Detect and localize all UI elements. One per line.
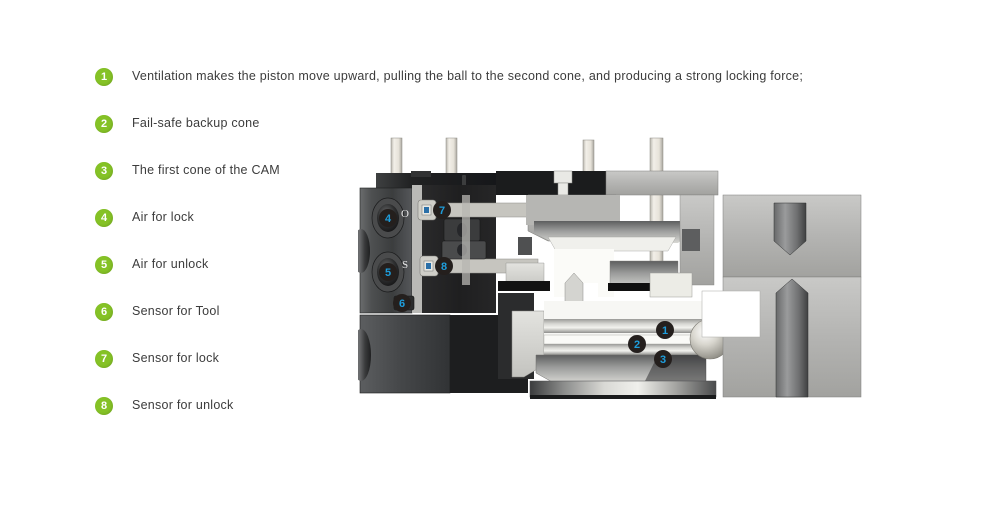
legend-label-4: Air for lock — [132, 210, 194, 224]
port-label-lock: O — [401, 208, 409, 220]
legend-label-1: Ventilation makes the piston move upward… — [132, 69, 803, 83]
legend-label-8: Sensor for unlock — [132, 398, 234, 412]
legend-label-7: Sensor for lock — [132, 351, 219, 365]
svg-text:6: 6 — [399, 298, 405, 310]
diagram-callout-7: 7 — [433, 201, 451, 219]
legend-badge-2: 2 — [95, 115, 113, 133]
legend-badge-6: 6 — [95, 303, 113, 321]
port-label-unlock: S — [402, 259, 408, 271]
svg-text:8: 8 — [441, 261, 447, 273]
svg-text:1: 1 — [662, 325, 668, 337]
legend-badge-3: 3 — [95, 162, 113, 180]
diagram-callout-6: 6 — [393, 294, 411, 312]
svg-text:3: 3 — [660, 354, 666, 366]
tool-changer-diagram: O S 1 2 3 4 5 6 7 8 — [358, 133, 863, 400]
diagram-callout-5: 5 — [379, 263, 397, 281]
diagram-callout-2: 2 — [628, 335, 646, 353]
legend-label-5: Air for unlock — [132, 257, 208, 271]
list-item: 8 Sensor for unlock — [95, 397, 945, 444]
svg-text:2: 2 — [634, 339, 640, 351]
diagram-callout-1: 1 — [656, 321, 674, 339]
svg-text:5: 5 — [385, 267, 391, 279]
legend-badge-7: 7 — [95, 350, 113, 368]
diagram-callout-3: 3 — [654, 350, 672, 368]
svg-text:7: 7 — [439, 205, 445, 217]
legend-label-2: Fail-safe backup cone — [132, 116, 260, 130]
diagram-callout-4: 4 — [379, 209, 397, 227]
piston-cone-stack — [498, 293, 716, 399]
legend-badge-1: 1 — [95, 68, 113, 86]
diagram-callout-8: 8 — [435, 257, 453, 275]
svg-text:4: 4 — [385, 213, 392, 225]
legend-badge-8: 8 — [95, 397, 113, 415]
list-item: 1 Ventilation makes the piston move upwa… — [95, 68, 945, 115]
legend-badge-4: 4 — [95, 209, 113, 227]
legend-badge-5: 5 — [95, 256, 113, 274]
legend-label-3: The first cone of the CAM — [132, 163, 280, 177]
legend-label-6: Sensor for Tool — [132, 304, 220, 318]
